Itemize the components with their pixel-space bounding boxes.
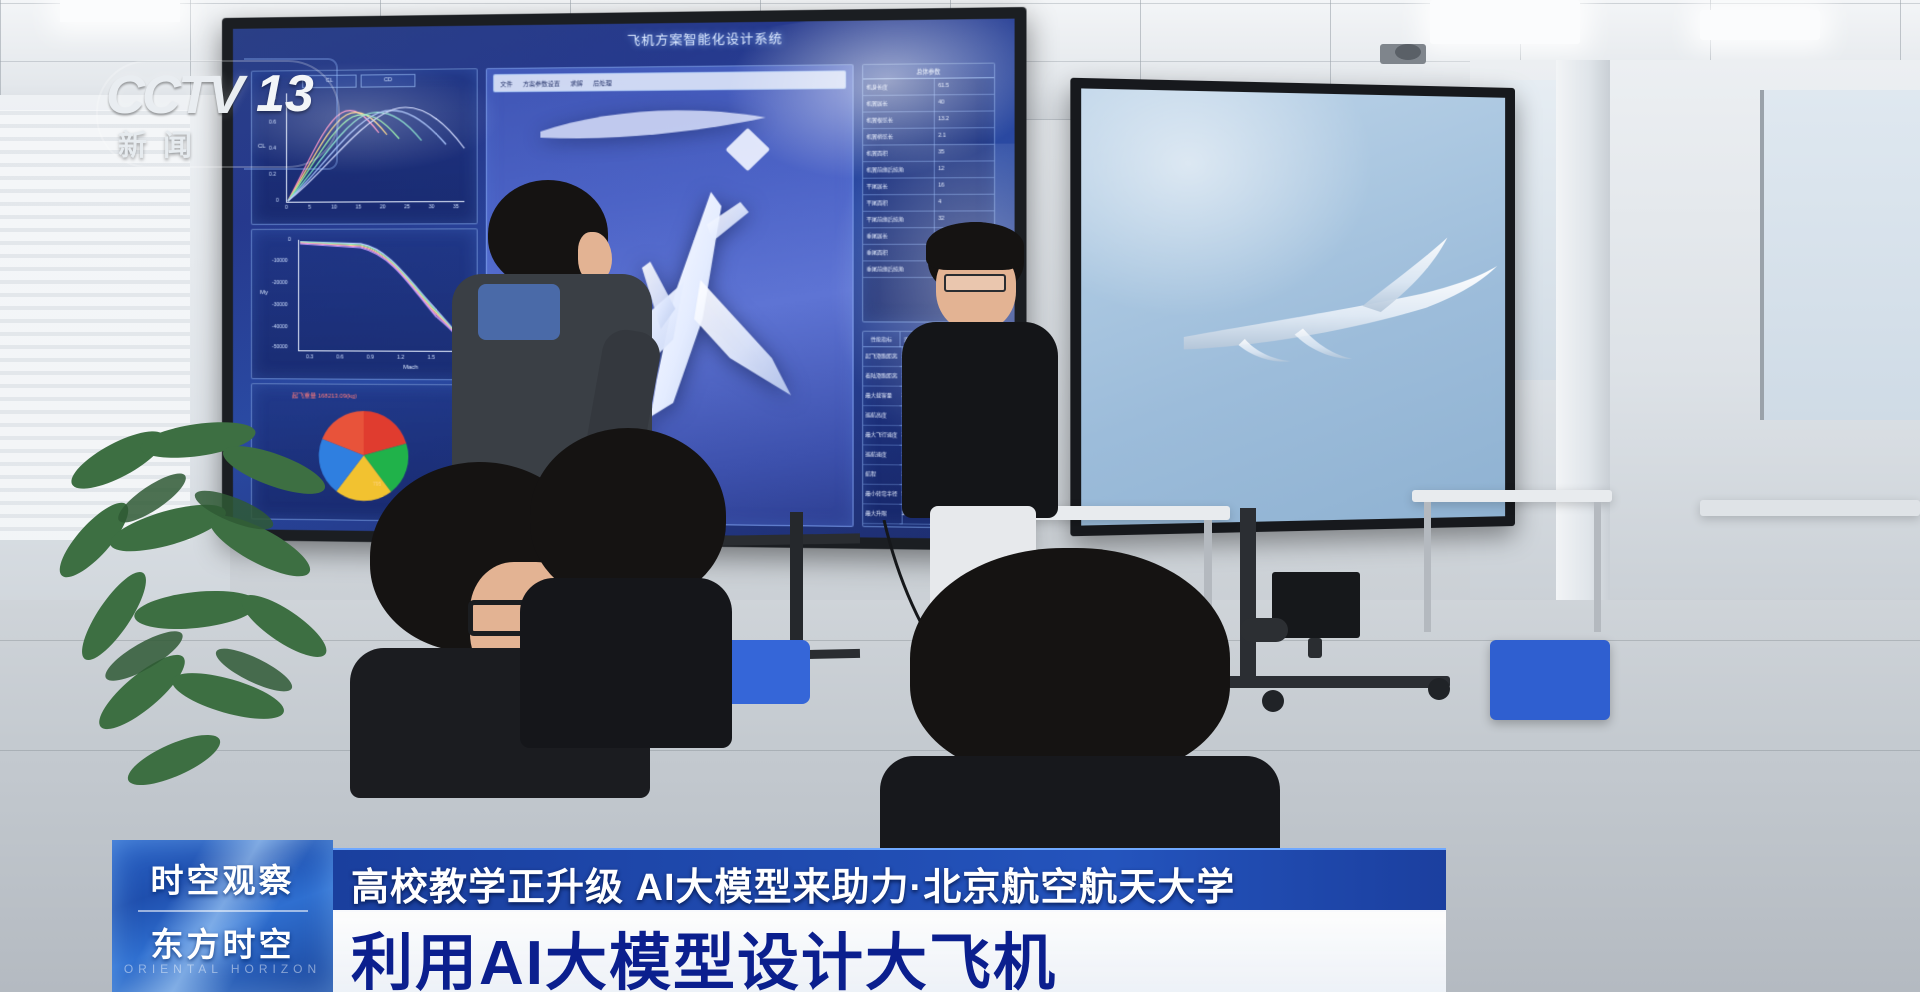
req-cell: 巡航高度 — [863, 405, 903, 426]
ceiling-light — [1700, 10, 1820, 40]
lower-third-banner: 时空观察 东方时空 ORIENTAL HORIZON 高校教学正升级 AI大模型… — [112, 840, 1446, 992]
pillar — [1556, 60, 1610, 620]
xtick: 0.9 — [367, 355, 374, 361]
param-name: 机身长度 — [863, 78, 934, 95]
headline-bar: 高校教学正升级 AI大模型来助力·北京航空航天大学 — [333, 848, 1446, 912]
desk — [1700, 500, 1920, 516]
xlabel-mach: Mach — [403, 365, 418, 371]
chair — [1490, 640, 1610, 720]
xtick: 0 — [285, 205, 288, 211]
person-foreground-center — [520, 428, 740, 728]
caster-wheel — [1262, 690, 1284, 712]
req-col-header: 性能指标 — [863, 332, 900, 348]
param-value: 13.2 — [934, 110, 994, 127]
ytick: 0.2 — [269, 172, 276, 178]
param-name: 机翼前缘后掠角 — [863, 161, 934, 178]
xtick: 10 — [331, 205, 337, 211]
collar — [478, 284, 560, 340]
ceiling-light — [1430, 0, 1580, 44]
caster-wheel — [1428, 678, 1450, 700]
aircraft-render-view — [1081, 88, 1505, 525]
param-name: 机翼展长 — [863, 94, 934, 111]
channel-logo: CCTV 13 新闻 — [96, 58, 326, 168]
channel-sub-label: 新闻 — [118, 122, 208, 164]
ytick: -20000 — [272, 280, 288, 286]
program-tag-en: ORIENTAL HORIZON — [112, 962, 333, 976]
xtick: 15 — [356, 204, 362, 210]
xtick: 25 — [404, 204, 410, 210]
ytick: -40000 — [272, 324, 288, 330]
ytick: -50000 — [272, 344, 288, 350]
desk-leg — [1594, 502, 1601, 632]
toolbar-solve[interactable]: 求解 — [570, 78, 582, 87]
toolbar-file[interactable]: 文件 — [500, 78, 512, 87]
xtick: 20 — [380, 204, 386, 210]
subhead-bar: 利用AI大模型设计大飞机 — [333, 910, 1446, 992]
program-tag-top: 时空观察 — [112, 854, 333, 902]
app-title: 飞机方案智能化设计系统 — [554, 27, 858, 50]
person-foreground-right — [900, 548, 1260, 838]
ytick: 0 — [288, 237, 291, 243]
pie-title: 起飞重量 168213.09(kg) — [292, 390, 357, 399]
ylabel-my: My — [260, 290, 268, 296]
subhead-text: 利用AI大模型设计大飞机 — [351, 912, 1057, 992]
channel-number: 13 — [256, 64, 314, 124]
req-cell: 着陆滑跑距离 — [863, 366, 903, 387]
ceiling-light — [60, 0, 180, 22]
param-name: 平尾面积 — [863, 194, 934, 211]
viewport-toolbar[interactable]: 文件 方案参数设置 求解 后处理 — [493, 70, 846, 92]
tag-divider — [138, 910, 308, 912]
req-cell: 起飞滑跑距离 — [863, 346, 903, 367]
toolbar-params[interactable]: 方案参数设置 — [523, 78, 560, 88]
param-row: 平尾面积4 — [863, 194, 994, 212]
req-cell: 航程 — [863, 464, 903, 485]
xtick: 0.3 — [306, 354, 313, 360]
ytick: -10000 — [272, 258, 288, 264]
chart-tab-cd[interactable]: CD — [361, 74, 416, 88]
param-row: 机翼前缘后掠角12 — [863, 160, 994, 178]
param-value: 16 — [934, 177, 994, 194]
desk — [1412, 490, 1612, 502]
ytick: 0 — [276, 198, 279, 204]
param-value: 12 — [934, 160, 994, 177]
desk-leg — [1424, 502, 1431, 632]
req-cell: 最大飞行速度 — [863, 425, 903, 446]
param-value: 2.1 — [934, 127, 994, 144]
req-cell: 最大载客量 — [863, 385, 903, 406]
param-value: 4 — [934, 194, 994, 211]
xtick: 0.6 — [336, 354, 343, 360]
monitor-stand — [1308, 638, 1322, 658]
req-cell: 最小转弯半径 — [863, 484, 903, 505]
param-name: 机翼根弦长 — [863, 111, 934, 128]
program-tag-bottom: 东方时空 — [112, 918, 333, 966]
param-row: 平尾展长16 — [863, 177, 994, 195]
xtick: 1.2 — [397, 355, 404, 361]
potted-plant — [48, 400, 358, 820]
req-cell: 巡航速度 — [863, 444, 903, 465]
smoke-detector-icon — [1395, 44, 1421, 60]
headline-text: 高校教学正升级 AI大模型来助力·北京航空航天大学 — [351, 856, 1235, 911]
xtick: 5 — [308, 205, 311, 211]
param-name: 机翼梢弦长 — [863, 128, 934, 145]
broadcast-frame: 飞机方案智能化设计系统 CL CD 0 0.2 0.4 0.6 0.8 CL 0… — [0, 0, 1920, 992]
param-name: 机翼面积 — [863, 144, 934, 161]
param-value: 35 — [934, 144, 994, 161]
window-right — [1760, 90, 1920, 420]
ytick: -30000 — [272, 302, 288, 308]
param-value: 40 — [934, 94, 994, 111]
cctv-wordmark: CCTV — [106, 64, 241, 126]
toolbar-post[interactable]: 后处理 — [593, 77, 612, 86]
secondary-display-screen[interactable] — [1070, 78, 1515, 537]
param-name: 平尾展长 — [863, 177, 934, 194]
program-tag-block: 时空观察 东方时空 ORIENTAL HORIZON — [112, 840, 333, 992]
param-value: 61.5 — [934, 77, 994, 94]
screen-glare — [1081, 88, 1375, 318]
glasses-icon — [944, 274, 1006, 292]
param-row: 机翼面积35 — [863, 144, 994, 162]
